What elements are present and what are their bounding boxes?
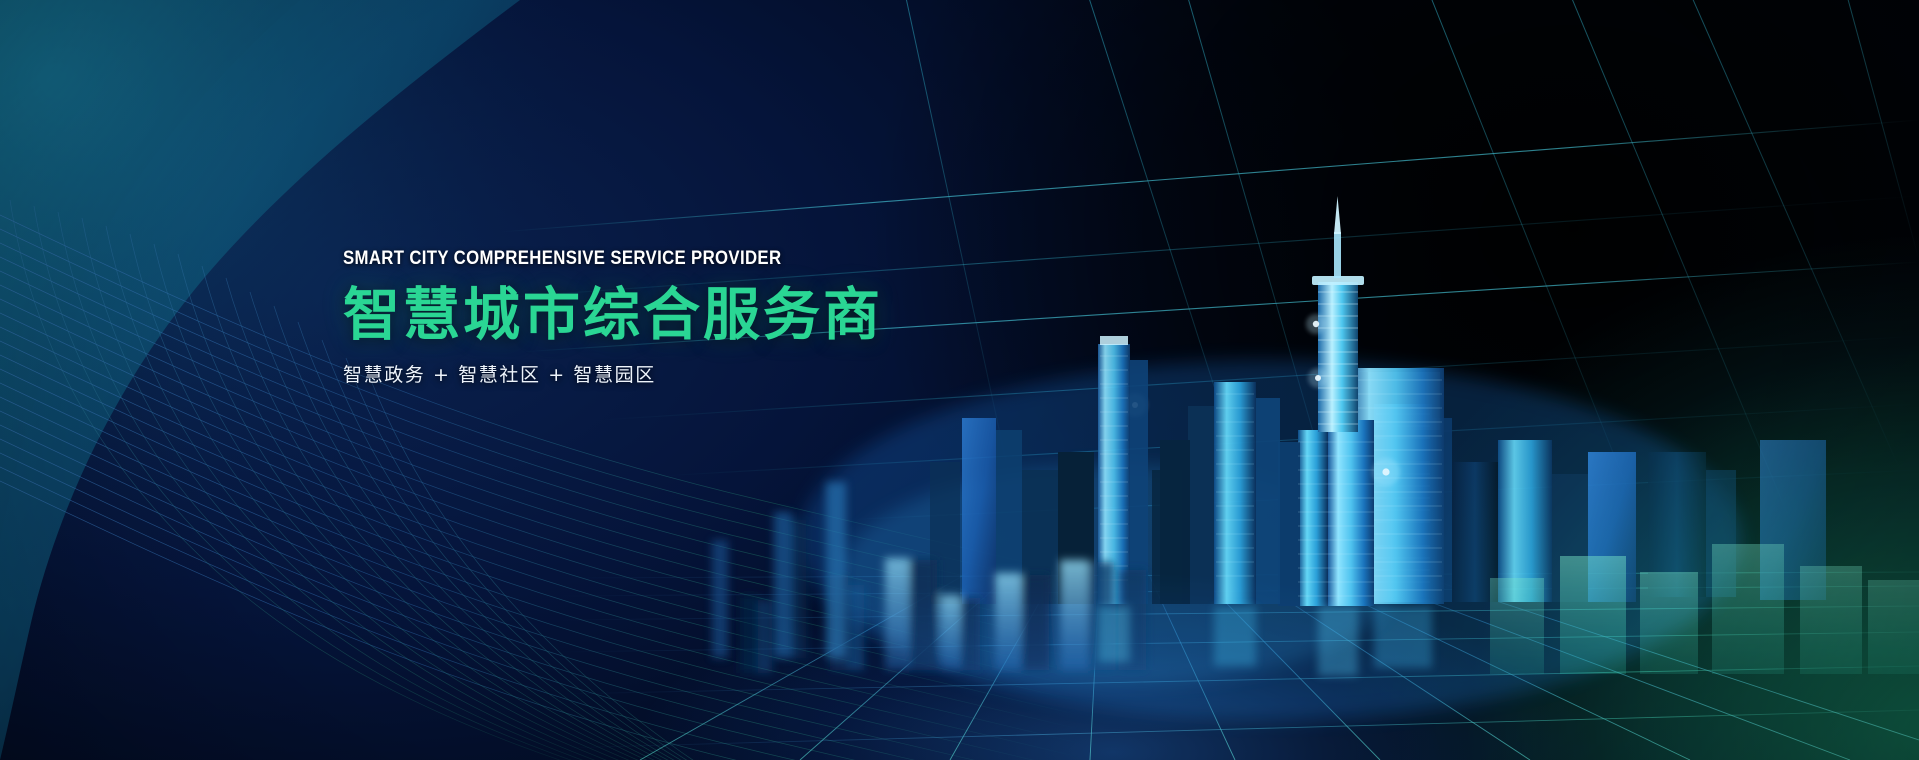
- page-title: 智慧城市综合服务商: [343, 286, 1063, 346]
- hero-text-block: SMART CITY COMPREHENSIVE SERVICE PROVIDE…: [343, 247, 1063, 387]
- english-tagline: SMART CITY COMPREHENSIVE SERVICE PROVIDE…: [343, 247, 962, 270]
- hero-banner: SMART CITY COMPREHENSIVE SERVICE PROVIDE…: [0, 0, 1919, 760]
- subtitle: 智慧政务 + 智慧社区 + 智慧园区: [343, 360, 1063, 387]
- spire-tower: [1278, 196, 1374, 606]
